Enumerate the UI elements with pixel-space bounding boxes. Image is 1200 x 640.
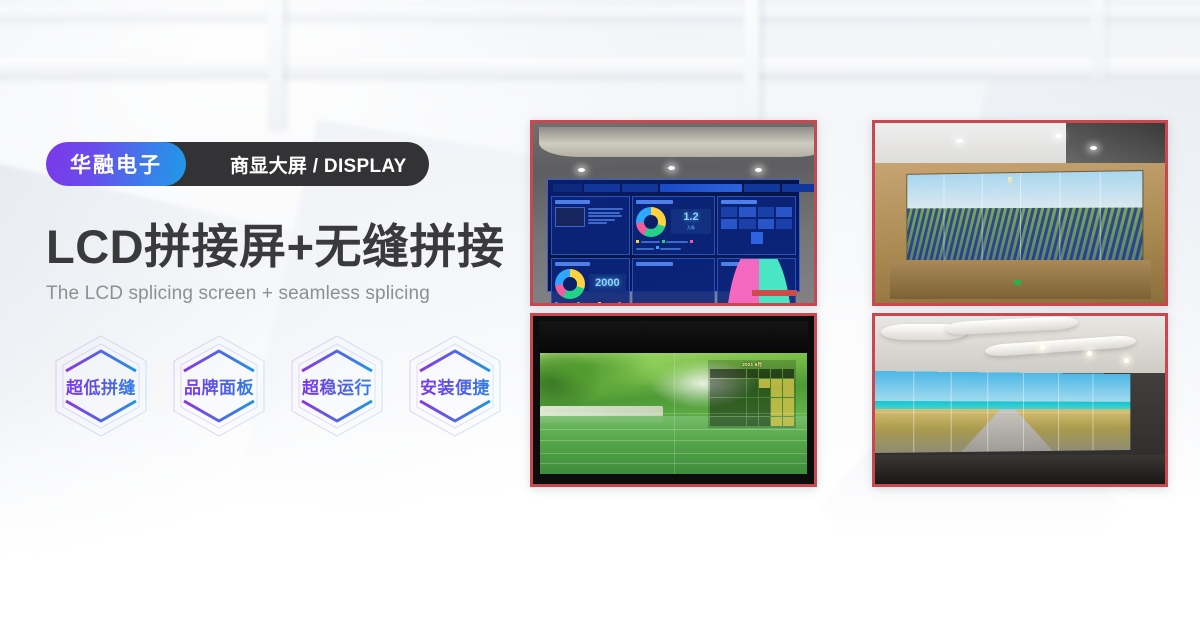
kpi-primary-unit: 万条 [673, 225, 709, 231]
feature-badge-1: 品牌面板 [164, 331, 274, 441]
feature-badge-3: 安装便捷 [400, 331, 510, 441]
page-title: LCD拼接屏+无缝拼接 [46, 222, 516, 271]
calendar-title: 2021 6月 [710, 362, 794, 368]
feature-badge-label: 品牌面板 [164, 374, 274, 399]
dashboard-screen: 1.2 万条 [547, 179, 800, 292]
beach-boardwalk-screen [875, 371, 1131, 453]
feature-badge-label: 安装便捷 [400, 374, 510, 399]
feature-badge-label: 超稳运行 [282, 374, 392, 399]
feature-badge-0: 超低拼缝 [46, 331, 156, 441]
badge-row: 商显大屏 / DISPLAY 华融电子 [46, 142, 516, 186]
banner-text-column: 商显大屏 / DISPLAY 华融电子 LCD拼接屏+无缝拼接 The LCD … [46, 142, 516, 441]
willow-lake-screen: 2021 6月 [540, 353, 807, 474]
bar-chart [636, 269, 711, 303]
calendar-grid [710, 369, 794, 426]
solar-farm-screen [906, 170, 1143, 268]
donut-chart [555, 269, 585, 299]
feature-badge-label: 超低拼缝 [46, 374, 156, 399]
category-badge-label: 商显大屏 / DISPLAY [230, 151, 407, 178]
donut-chart [636, 207, 666, 237]
calendar-overlay: 2021 6月 [708, 360, 796, 428]
brand-badge-label: 华融电子 [70, 149, 162, 179]
feature-badge-row: 超低拼缝 品牌面板 超稳运行 [46, 331, 516, 441]
photo-willow-lake-video-wall: 2021 6月 [530, 313, 817, 487]
page-subtitle: The LCD splicing screen + seamless splic… [46, 283, 516, 305]
photo-data-dashboard-video-wall: 1.2 万条 [530, 120, 817, 306]
photo-solar-farm-video-wall [872, 120, 1168, 306]
brand-badge: 华融电子 [46, 142, 186, 186]
photo-beach-boardwalk-video-wall [872, 313, 1168, 487]
feature-badge-2: 超稳运行 [282, 331, 392, 441]
kpi-secondary-value: 2000 [591, 278, 624, 289]
kpi-primary-value: 1.2 [673, 212, 709, 223]
